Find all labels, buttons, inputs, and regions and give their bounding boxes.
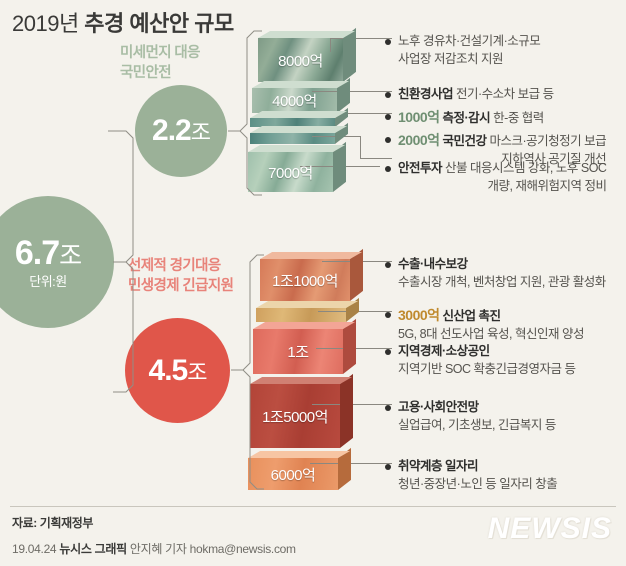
green-item-2-line1: 전기·수소차 보급 등	[453, 87, 554, 101]
bar-top	[250, 126, 347, 133]
red-item-4-title: 고용·사회안전망	[398, 400, 479, 414]
bar-top	[258, 31, 355, 38]
bar-green-2-label: 4000억	[272, 90, 317, 111]
bullet-dot	[385, 312, 391, 318]
leader-green-4b	[360, 136, 361, 158]
red-group-amount: 4.5조	[149, 356, 207, 386]
green-item-5-text: 안전투자 산불 대응시스템 강화, 노후 SOC 개량, 재해위험지역 정비	[398, 160, 606, 196]
red-item-5-text: 취약계층 일자리 청년·중장년·노인 등 일자리 창출	[398, 458, 557, 494]
green-group-amount: 2.2조	[152, 116, 210, 146]
bar-green-5-label: 7000억	[268, 162, 313, 183]
credit-line: 19.04.24 뉴시스 그래픽 안지혜 기자 hokma@newsis.com	[12, 540, 296, 557]
green-item-1-line1: 노후 경유차·건설기계·소규모	[398, 33, 540, 51]
total-amount: 6.7조	[15, 236, 81, 270]
credit-date: 19.04.24	[12, 542, 59, 556]
red-group-circle: 4.5조	[125, 318, 230, 423]
red-item-1-text: 수출·내수보강 수출시장 개척, 벤처창업 지원, 관광 활성화	[398, 256, 606, 292]
green-item-1-text: 노후 경유차·건설기계·소규모 사업장 저감조치 지원	[398, 33, 540, 69]
red-caption-line2: 민생경제 긴급지원	[128, 278, 233, 294]
bar-top	[250, 377, 352, 384]
red-item-3-line2: 지역기반 SOC 확충긴급경영자금 등	[398, 361, 576, 379]
bar-top	[248, 451, 350, 458]
bullet-dot	[385, 39, 391, 45]
green-item-3-line1: 한-중 협력	[490, 111, 544, 125]
bar-top	[250, 111, 347, 118]
red-item-4-text: 고용·사회안전망 실업급여, 기초생보, 긴급복지 등	[398, 399, 556, 435]
bar-side	[340, 374, 353, 448]
bar-green-5: 7000억	[248, 152, 333, 192]
red-caption-line1: 선제적 경기대응	[128, 258, 221, 274]
title-year: 2019년	[12, 11, 84, 36]
green-item-5-line2: 개량, 재해위험지역 정비	[398, 178, 606, 196]
leader-green-1	[330, 38, 392, 39]
green-item-5-line1: 산불 대응시스템 강화, 노후 SOC	[442, 161, 606, 175]
bullet-dot	[385, 137, 391, 143]
newsis-watermark: NEWSIS	[488, 512, 612, 546]
bar-red-5-label: 6000억	[271, 464, 316, 485]
bullet-dot	[385, 349, 391, 355]
leader-green-4c	[360, 158, 392, 159]
green-item-3-title: 측정·감시	[443, 111, 491, 125]
green-item-2-text: 친환경사업 전기·수소차 보급 등	[398, 86, 554, 104]
bar-top	[253, 322, 355, 329]
bullet-dot	[385, 114, 391, 120]
total-unit-note: 단위:원	[29, 275, 67, 288]
source-label: 자료: 기획재정부	[12, 514, 93, 531]
leader-green-2	[312, 91, 392, 92]
red-item-3-text: 지역경제·소상공인 지역기반 SOC 확충긴급경영자금 등	[398, 343, 576, 379]
credit-reporter: 안지혜 기자 hokma@newsis.com	[127, 542, 296, 556]
bar-top	[260, 252, 362, 259]
page-title: 2019년 추경 예산안 규모	[12, 6, 234, 38]
green-item-4-amount: 2000억	[398, 132, 440, 148]
bullet-dot	[385, 464, 391, 470]
bullet-dot	[385, 92, 391, 98]
green-item-2-title: 친환경사업	[398, 87, 453, 101]
bar-red-1: 1조1000억	[260, 259, 350, 301]
bar-red-3-label: 1조	[287, 341, 308, 362]
red-item-1-title: 수출·내수보강	[398, 257, 468, 271]
red-item-2-text: 3000억 신산업 촉진 5G, 8대 선도사업 육성, 혁신인재 양성	[398, 306, 584, 344]
bar-red-4-label: 1조5000억	[262, 406, 328, 427]
total-amount-circle: 6.7조 단위:원	[0, 196, 114, 328]
green-item-3-amount: 1000억	[398, 109, 440, 125]
bullet-dot	[385, 405, 391, 411]
green-item-4-line1: 마스크·공기청정기 보급	[487, 134, 607, 148]
title-main: 추경 예산안 규모	[84, 11, 233, 36]
bar-red-3: 1조	[253, 329, 343, 374]
footer-divider	[10, 506, 616, 507]
bar-green-1-label: 8000억	[278, 50, 323, 71]
red-item-2-title: 신산업 촉진	[443, 309, 501, 323]
infographic-root: 2019년 추경 예산안 규모 6.7조 단위:원 미세먼지 대응	[0, 0, 626, 566]
bar-green-4	[250, 133, 335, 144]
green-caption-line1: 미세먼지 대응	[120, 45, 200, 61]
green-group-circle: 2.2조	[135, 85, 227, 177]
red-item-1-line2: 수출시장 개척, 벤처창업 지원, 관광 활성화	[398, 274, 606, 292]
green-item-4-title: 국민건강	[443, 134, 487, 148]
green-item-5-title: 안전투자	[398, 161, 442, 175]
green-caption-line2: 국민안전	[120, 65, 171, 81]
bar-top	[252, 81, 349, 88]
red-group-caption: 선제적 경기대응 민생경제 긴급지원	[128, 257, 233, 296]
red-item-5-line2: 청년·중장년·노인 등 일자리 창출	[398, 476, 557, 494]
red-item-2-amount: 3000억	[398, 307, 440, 323]
red-item-5-title: 취약계층 일자리	[398, 459, 478, 473]
red-item-3-title: 지역경제·소상공인	[398, 344, 490, 358]
leader-green-1b	[330, 38, 331, 52]
bullet-dot	[385, 262, 391, 268]
red-item-4-line2: 실업급여, 기초생보, 긴급복지 등	[398, 417, 556, 435]
green-group-caption: 미세먼지 대응 국민안전	[120, 44, 200, 83]
credit-agency: 뉴시스 그래픽	[59, 542, 126, 556]
bar-red-1-label: 1조1000억	[272, 270, 338, 291]
leader-red-5	[310, 463, 392, 464]
green-item-3-text: 1000억 측정·감시 한-중 협력	[398, 108, 544, 128]
green-item-1-line2: 사업장 저감조치 지원	[398, 51, 540, 69]
bar-red-4: 1조5000억	[250, 384, 340, 448]
red-item-2-line2: 5G, 8대 선도사업 육성, 혁신인재 양성	[398, 326, 584, 344]
bar-face	[250, 133, 335, 144]
bar-top	[256, 301, 358, 308]
bullet-dot	[385, 166, 391, 172]
bar-top	[248, 145, 345, 152]
